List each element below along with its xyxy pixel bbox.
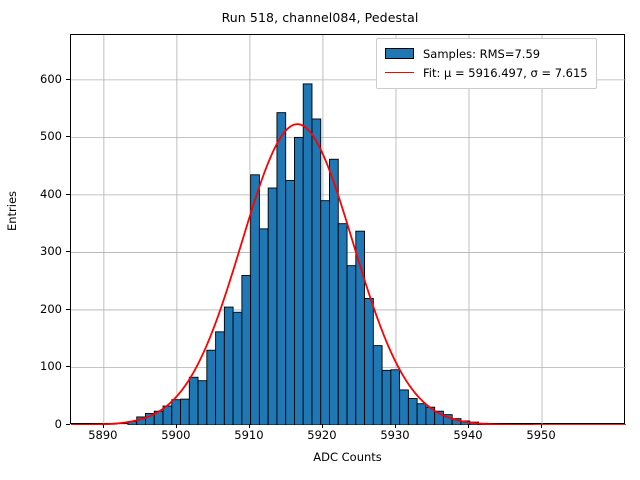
x-tick-mark — [468, 424, 469, 428]
y-tick-label: 0 — [2, 417, 62, 431]
histogram-bar — [181, 399, 190, 425]
histogram-bar — [391, 370, 400, 425]
histogram-bar — [277, 113, 286, 425]
histogram-bar — [365, 298, 374, 425]
histogram-bar — [198, 381, 207, 425]
x-tick-label: 5920 — [287, 428, 357, 442]
histogram-bar — [303, 84, 312, 425]
histogram-bar — [400, 390, 409, 425]
histogram-bar — [224, 307, 233, 425]
y-axis-label: Entries — [5, 111, 19, 311]
histogram-bar — [382, 370, 391, 425]
x-tick-mark — [249, 424, 250, 428]
legend-label-fit: Fit: μ = 5916.497, σ = 7.615 — [423, 66, 588, 80]
histogram-bar — [207, 350, 216, 425]
legend: Samples: RMS=7.59 Fit: μ = 5916.497, σ =… — [376, 38, 597, 89]
histogram-bar — [172, 400, 181, 425]
y-tick-mark — [66, 424, 70, 425]
histogram-bar — [321, 201, 330, 425]
histogram-bar — [312, 119, 321, 425]
histogram-bars — [128, 84, 505, 425]
x-tick-mark — [322, 424, 323, 428]
x-tick-mark — [541, 424, 542, 428]
x-tick-label: 5940 — [433, 428, 503, 442]
y-tick-label: 100 — [2, 359, 62, 373]
histogram-bar — [347, 266, 356, 425]
y-tick-mark — [66, 136, 70, 137]
histogram-bar — [338, 224, 347, 425]
histogram-bar — [268, 188, 277, 425]
plot-axes — [70, 34, 625, 424]
y-tick-mark — [66, 309, 70, 310]
x-tick-mark — [176, 424, 177, 428]
x-tick-label: 5950 — [506, 428, 576, 442]
legend-entry-fit: Fit: μ = 5916.497, σ = 7.615 — [385, 63, 588, 82]
histogram-bar — [242, 275, 251, 425]
histogram-bar — [294, 137, 303, 425]
chart-title: Run 518, channel084, Pedestal — [0, 10, 640, 25]
x-tick-label: 5890 — [68, 428, 138, 442]
x-axis-label: ADC Counts — [70, 450, 625, 464]
y-tick-mark — [66, 194, 70, 195]
histogram-bar — [408, 399, 417, 425]
plot-canvas — [71, 35, 626, 425]
legend-label-samples: Samples: RMS=7.59 — [423, 47, 540, 61]
figure: Run 518, channel084, Pedestal 0100200300… — [0, 0, 640, 480]
legend-patch-icon — [385, 48, 414, 59]
x-tick-label: 5900 — [141, 428, 211, 442]
legend-entry-samples: Samples: RMS=7.59 — [385, 44, 588, 63]
x-tick-label: 5930 — [360, 428, 430, 442]
x-tick-mark — [103, 424, 104, 428]
histogram-bar — [189, 377, 198, 425]
y-tick-mark — [66, 251, 70, 252]
y-tick-mark — [66, 366, 70, 367]
y-tick-label: 600 — [2, 72, 62, 86]
legend-line-icon — [385, 67, 414, 78]
histogram-bar — [286, 181, 295, 425]
x-tick-label: 5910 — [214, 428, 284, 442]
histogram-bar — [417, 404, 426, 425]
histogram-bar — [356, 231, 365, 425]
histogram-bar — [259, 229, 268, 425]
x-tick-mark — [395, 424, 396, 428]
histogram-bar — [330, 159, 339, 425]
histogram-bar — [373, 346, 382, 425]
y-tick-mark — [66, 79, 70, 80]
histogram-bar — [233, 312, 242, 425]
histogram-bar — [216, 332, 225, 425]
